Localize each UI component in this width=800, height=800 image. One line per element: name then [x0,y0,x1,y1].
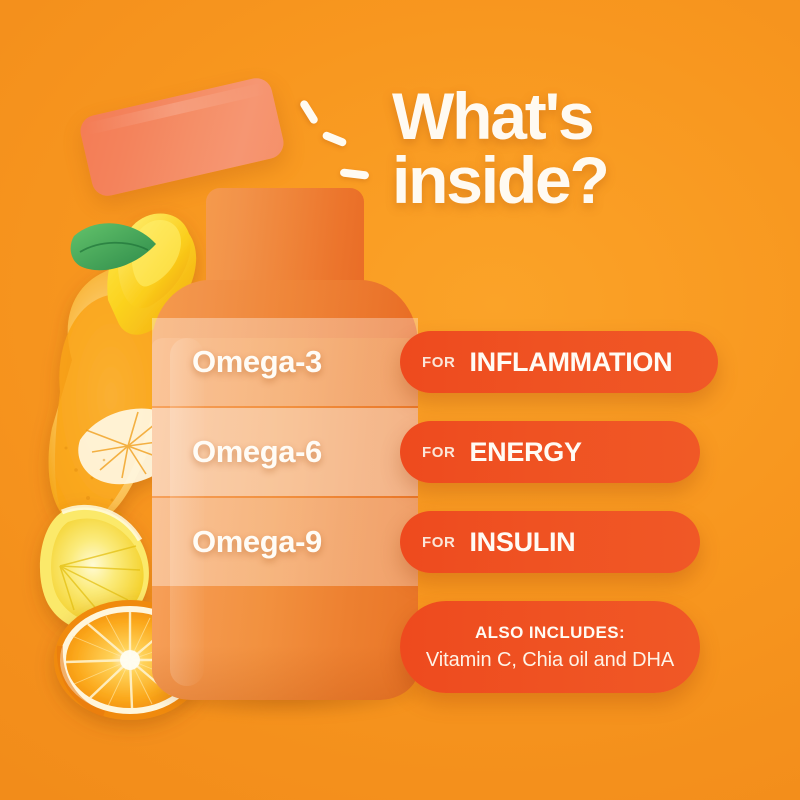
ingredient-band-omega-6: Omega-6 [152,408,418,496]
also-includes-card: ALSO INCLUDES: Vitamin C, Chia oil and D… [400,601,700,693]
benefit-label: INFLAMMATION [469,347,672,378]
sparkle-icon [299,99,320,125]
also-includes-items: Vitamin C, Chia oil and DHA [426,649,674,672]
lemon-wedge [40,507,149,631]
headline-line-2: inside? [392,148,722,212]
sparkle-icon [340,168,370,179]
page-title: What's inside? [392,84,722,212]
ingredient-name: Omega-9 [192,524,322,560]
benefit-pill-energy: FOR ENERGY [400,421,700,483]
ingredient-band-omega-3: Omega-3 [152,318,418,406]
benefit-label: INSULIN [469,527,575,558]
sparkle-icon [321,131,347,148]
benefit-pill-inflammation: FOR INFLAMMATION [400,331,718,393]
benefit-pill-insulin: FOR INSULIN [400,511,700,573]
green-leaf [71,223,156,270]
benefit-label: ENERGY [469,437,581,468]
ingredient-name: Omega-6 [192,434,322,470]
benefit-prefix: FOR [422,354,455,371]
benefit-prefix: FOR [422,444,455,461]
ingredient-band-omega-9: Omega-9 [152,498,418,586]
also-includes-title: ALSO INCLUDES: [475,623,625,643]
benefit-prefix: FOR [422,534,455,551]
bottle-cap [77,75,286,199]
product-infographic-poster: Omega-3 Omega-6 Omega-9 What's inside? F… [0,0,800,800]
headline-line-1: What's [392,84,722,148]
ingredient-name: Omega-3 [192,344,322,380]
